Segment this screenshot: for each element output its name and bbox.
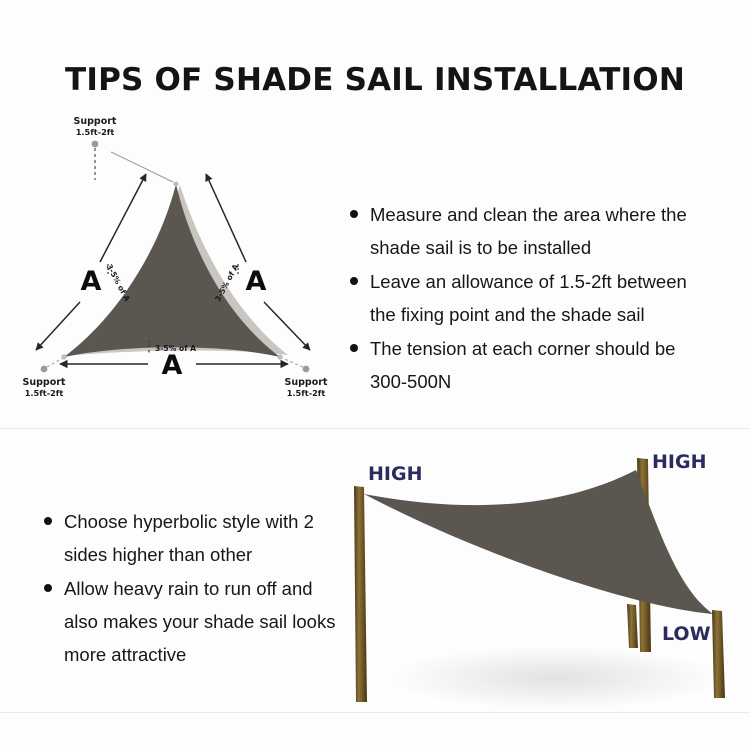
support-label-top: Support bbox=[74, 116, 117, 127]
tips-list-bottom: Choose hyperbolic style with 2 sides hig… bbox=[42, 505, 342, 672]
dimension-label-bottom: A bbox=[162, 350, 183, 381]
corner-nub-bottom-left bbox=[61, 354, 66, 359]
ground-shadow bbox=[380, 644, 730, 712]
bullet-dot-icon bbox=[350, 210, 358, 218]
sail-surface bbox=[364, 470, 713, 614]
post-front-right bbox=[712, 610, 725, 698]
dimension-note-left: 3-5% of A bbox=[105, 263, 132, 304]
section-divider-top bbox=[0, 428, 750, 429]
corner-label-high-left: HIGH bbox=[368, 463, 422, 485]
list-item-text: Allow heavy rain to run off and also mak… bbox=[64, 578, 335, 665]
post-back-left bbox=[354, 486, 367, 702]
anchor-line-bottom-right bbox=[282, 358, 303, 367]
corner-label-high-right: HIGH bbox=[652, 451, 706, 473]
dimension-arrow-left-lower bbox=[36, 302, 80, 350]
corner-connector-top bbox=[111, 152, 173, 182]
support-sublabel-bottom-right: 1.5ft-2ft bbox=[287, 388, 326, 398]
triangle-shade-sail-diagram: Support 1.5ft-2ft Support 1.5ft-2ft Supp… bbox=[18, 112, 348, 412]
dimension-arrow-right-upper bbox=[206, 174, 246, 262]
bullet-dot-icon bbox=[44, 584, 52, 592]
support-label-bottom-right: Support bbox=[285, 377, 328, 388]
support-label-bottom-left: Support bbox=[23, 377, 66, 388]
anchor-dot-top bbox=[92, 141, 99, 148]
list-item: Leave an allowance of 1.5-2ft between th… bbox=[348, 265, 716, 331]
hyperbolic-shade-sail-diagram: HIGH HIGH LOW bbox=[340, 430, 740, 712]
list-item: Allow heavy rain to run off and also mak… bbox=[42, 572, 342, 671]
list-item: Measure and clean the area where the sha… bbox=[348, 198, 716, 264]
anchor-line-bottom-left bbox=[47, 358, 63, 367]
list-item-text: The tension at each corner should be 300… bbox=[370, 338, 675, 392]
tips-list-top: Measure and clean the area where the sha… bbox=[348, 198, 716, 399]
support-sublabel-top: 1.5ft-2ft bbox=[76, 127, 115, 137]
bullet-dot-icon bbox=[350, 344, 358, 352]
corner-label-low: LOW bbox=[662, 623, 711, 645]
dimension-label-left: A bbox=[81, 266, 102, 297]
bullet-dot-icon bbox=[350, 277, 358, 285]
list-item-text: Leave an allowance of 1.5-2ft between th… bbox=[370, 271, 687, 325]
list-item-text: Choose hyperbolic style with 2 sides hig… bbox=[64, 511, 314, 565]
corner-nub-bottom-right bbox=[277, 354, 282, 359]
page-title: TIPS OF SHADE SAIL INSTALLATION bbox=[0, 62, 750, 98]
support-sublabel-bottom-left: 1.5ft-2ft bbox=[25, 388, 64, 398]
corner-nub-top bbox=[173, 181, 178, 186]
anchor-dot-bottom-right bbox=[303, 366, 310, 373]
list-item-text: Measure and clean the area where the sha… bbox=[370, 204, 687, 258]
infographic-page: TIPS OF SHADE SAIL INSTALLATION Support … bbox=[0, 0, 750, 750]
anchor-dot-bottom-left bbox=[41, 366, 48, 373]
post-middle bbox=[627, 604, 638, 648]
dimension-label-right: A bbox=[246, 266, 267, 297]
bullet-dot-icon bbox=[44, 517, 52, 525]
list-item: Choose hyperbolic style with 2 sides hig… bbox=[42, 505, 342, 571]
dimension-arrow-left-upper bbox=[100, 174, 146, 262]
dimension-note-bottom: 3-5% of A bbox=[155, 344, 196, 353]
section-divider-bottom bbox=[0, 712, 750, 713]
list-item: The tension at each corner should be 300… bbox=[348, 332, 716, 398]
